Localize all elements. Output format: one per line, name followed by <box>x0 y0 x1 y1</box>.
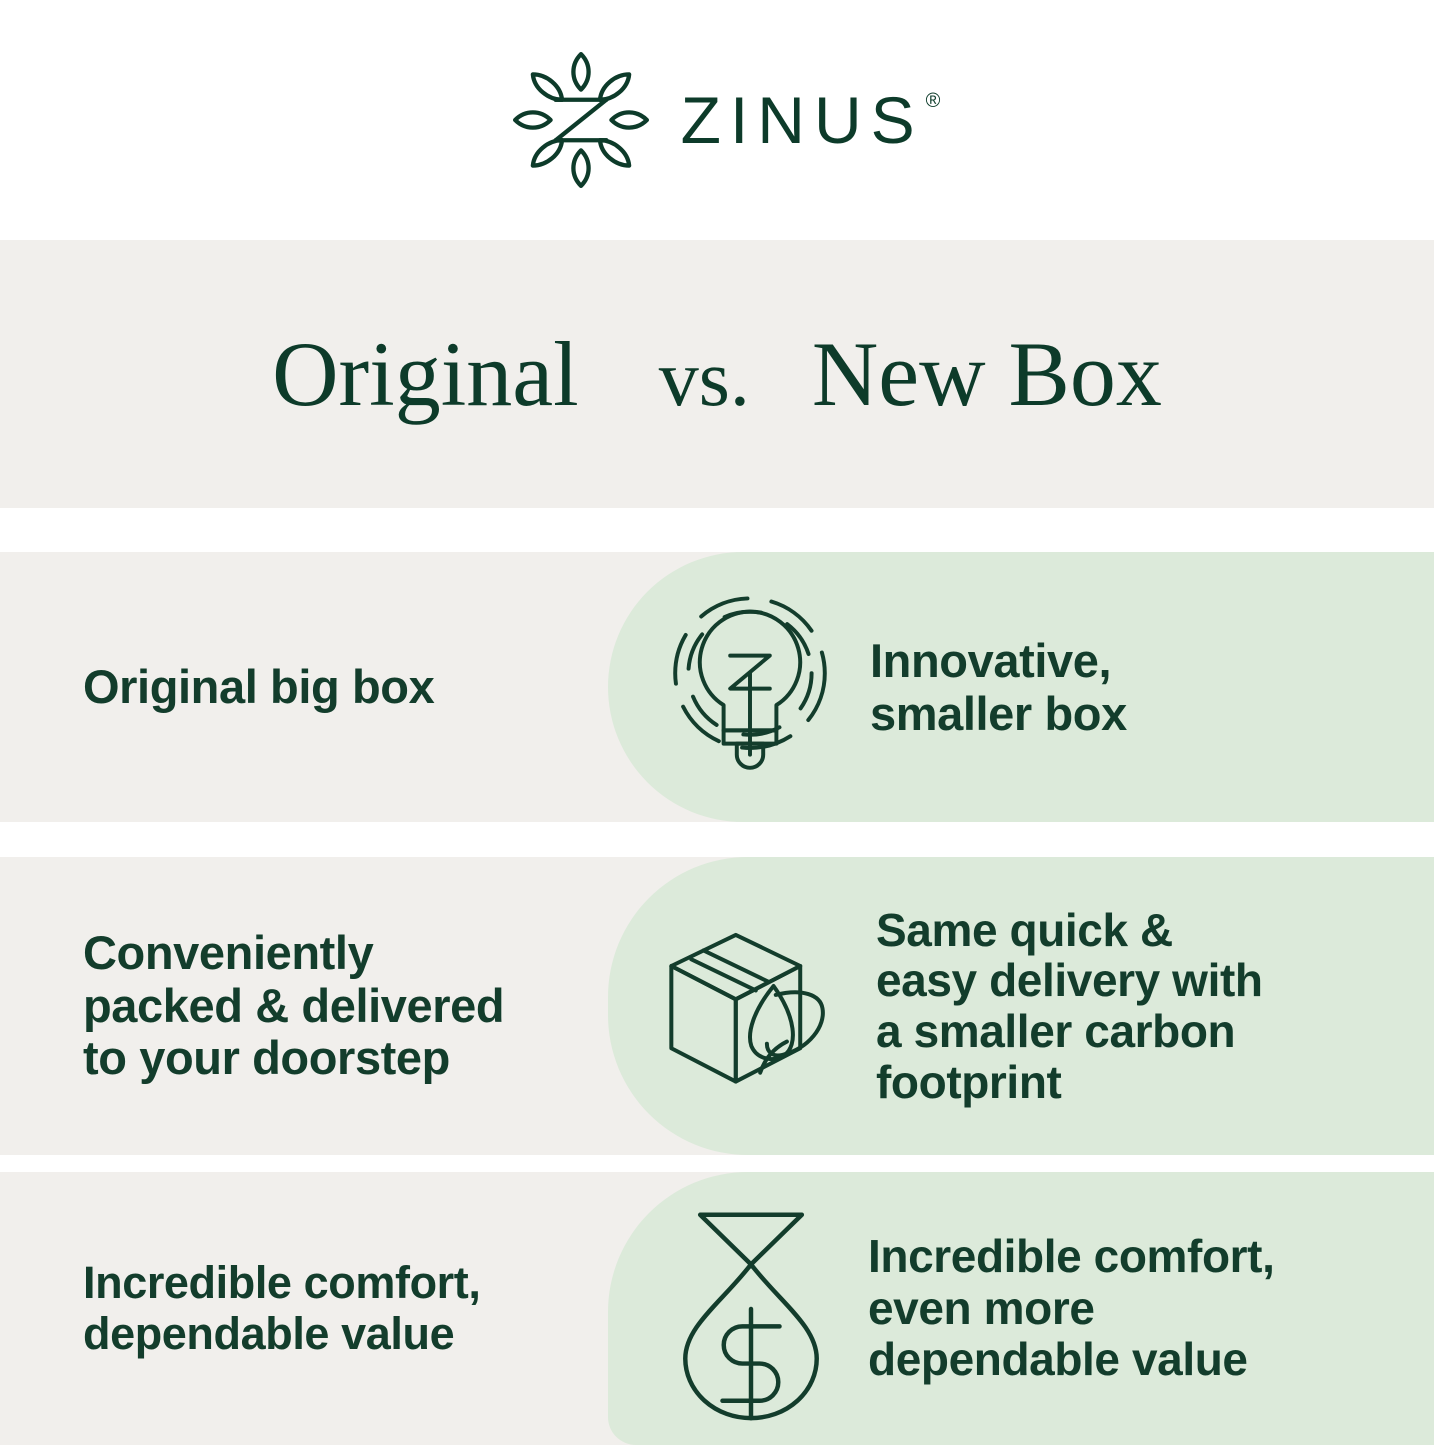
row-2-original-label: Conveniently packed & delivered to your … <box>83 927 504 1085</box>
brand-name: ZINUS <box>681 87 924 153</box>
lightbulb-z-idea-icon <box>646 583 854 791</box>
row-2-original-label-line-3: to your doorstep <box>83 1032 504 1085</box>
comparison-row-original-side: Conveniently packed & delivered to your … <box>0 857 610 1155</box>
title-band: Original vs. New Box <box>0 240 1434 508</box>
row-3-new-label-line-3: dependable value <box>868 1334 1274 1386</box>
title-right-word: New Box <box>812 328 1162 420</box>
row-3-original-label-line-1: Incredible comfort, <box>83 1258 480 1308</box>
brand-lockup: ZINUS ® <box>505 44 941 196</box>
row-2-new-label-line-3: a smaller carbon <box>876 1006 1263 1057</box>
box-with-leaves-icon <box>646 906 870 1106</box>
comparison-row-new-side: Same quick & easy delivery with a smalle… <box>608 857 1434 1155</box>
row-2-new-label-line-1: Same quick & <box>876 905 1263 956</box>
row-2-original-label-line-2: packed & delivered <box>83 980 504 1033</box>
row-1-original-label: Original big box <box>83 661 434 714</box>
comparison-row-new-side: Incredible comfort, even more dependable… <box>608 1172 1434 1445</box>
title-separator: vs. <box>659 339 750 419</box>
row-1-new-label: Innovative, smaller box <box>870 634 1127 740</box>
row-3-new-label-line-1: Incredible comfort, <box>868 1231 1274 1283</box>
brand-header: ZINUS ® <box>0 0 1445 240</box>
title-left-word: Original <box>272 328 579 420</box>
comparison-row: Conveniently packed & delivered to your … <box>0 857 1434 1155</box>
comparison-row-original-side: Original big box <box>0 552 610 822</box>
comparison-infographic: ZINUS ® Original vs. New Box Original bi… <box>0 0 1445 1445</box>
money-bag-dollar-icon <box>646 1202 856 1416</box>
row-3-new-label-line-2: even more <box>868 1283 1274 1335</box>
row-2-original-label-line-1: Conveniently <box>83 927 504 980</box>
row-3-original-label: Incredible comfort, dependable value <box>83 1258 480 1359</box>
row-3-original-label-line-2: dependable value <box>83 1309 480 1359</box>
comparison-row-new-side: Innovative, smaller box <box>608 552 1434 822</box>
page-title: Original vs. New Box <box>272 328 1162 420</box>
comparison-row: Incredible comfort, dependable value Inc… <box>0 1172 1434 1445</box>
comparison-row: Original big box <box>0 552 1434 822</box>
zinus-leaf-monogram-icon <box>505 44 657 196</box>
row-2-new-label-line-2: easy delivery with <box>876 955 1263 1006</box>
registered-trademark-icon: ® <box>926 91 941 111</box>
row-3-new-label: Incredible comfort, even more dependable… <box>868 1231 1274 1387</box>
row-2-new-label-line-4: footprint <box>876 1057 1263 1108</box>
brand-wordmark: ZINUS ® <box>681 87 941 153</box>
row-2-new-label: Same quick & easy delivery with a smalle… <box>876 905 1263 1107</box>
comparison-row-original-side: Incredible comfort, dependable value <box>0 1172 610 1445</box>
row-1-new-label-line-1: Innovative, <box>870 634 1127 687</box>
row-1-new-label-line-2: smaller box <box>870 687 1127 740</box>
